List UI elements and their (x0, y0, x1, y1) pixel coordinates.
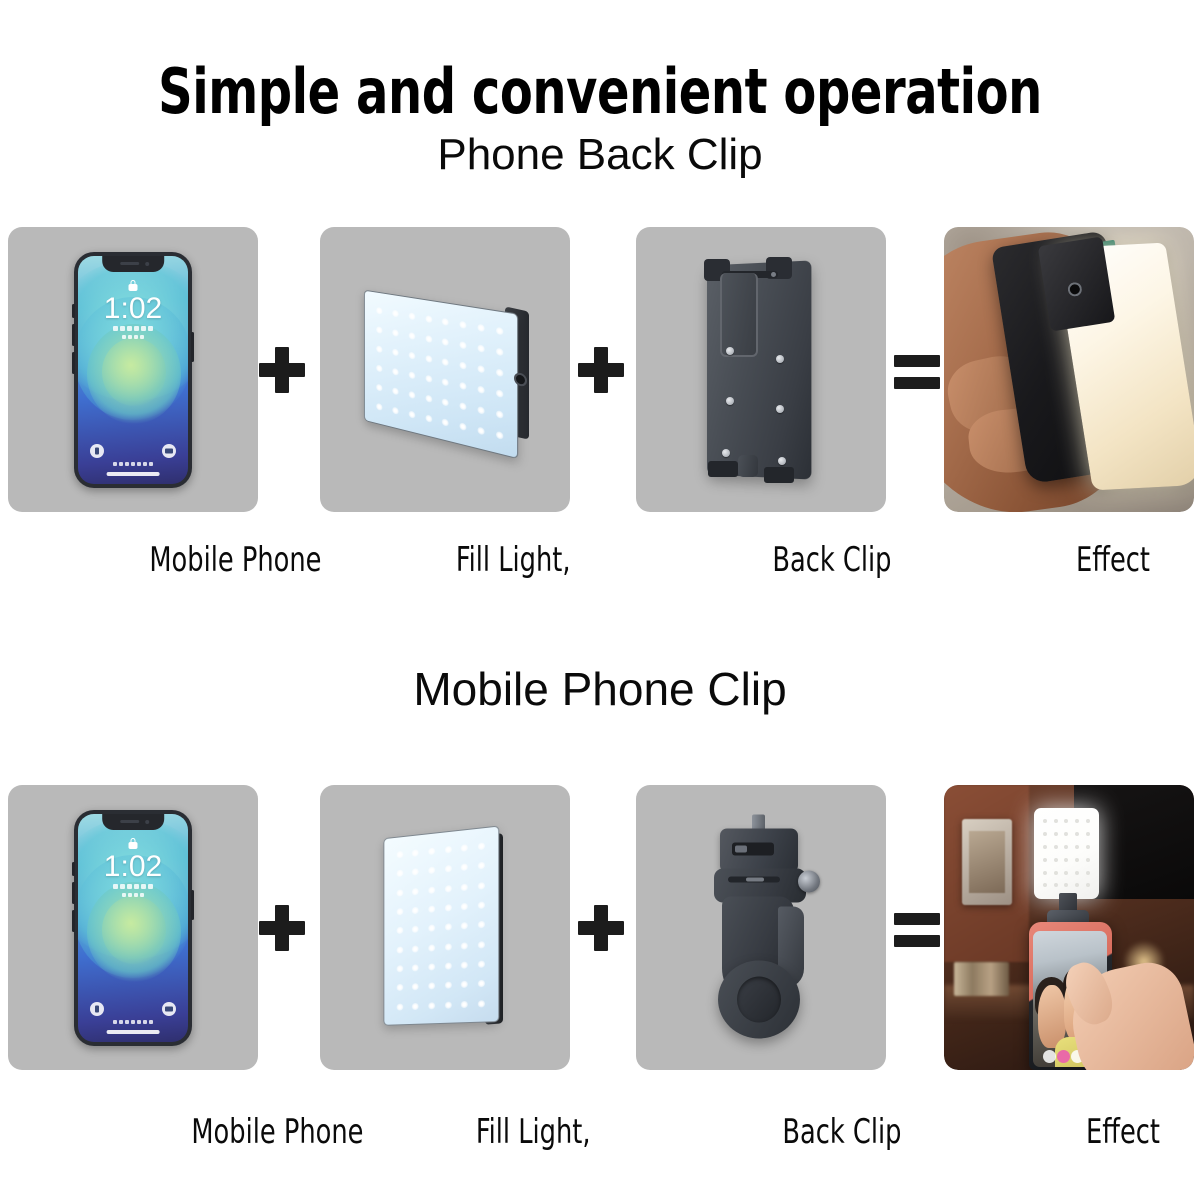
lock-icon (129, 838, 138, 849)
phone-screen: 1:02 (78, 256, 188, 484)
infographic-page: Simple and convenient operation Phone Ba… (0, 0, 1200, 1200)
phone-clamp-clip-illustration (696, 810, 826, 1045)
plus-operator-3 (259, 905, 305, 951)
power-button (191, 332, 194, 362)
earpiece-speaker (121, 262, 139, 265)
plus-operator-1 (259, 347, 305, 393)
volume-up-button (72, 324, 75, 346)
panel-back-clip-2 (636, 785, 886, 1070)
lockscreen-clock: 1:02 (78, 292, 188, 326)
home-indicator (107, 1030, 160, 1034)
panel-back-clip-1 (636, 227, 886, 512)
mobile-phone-illustration: 1:02 (74, 810, 192, 1046)
panel-effect-2 (944, 785, 1194, 1070)
lock-icon (129, 280, 138, 291)
mute-switch (72, 862, 75, 876)
lock-body (129, 842, 138, 849)
lockscreen-date-line-2 (122, 335, 144, 339)
panel-effect-1 (944, 227, 1194, 512)
volume-down-button (72, 352, 75, 374)
caption-fill-light-2: Fill Light, (476, 1112, 591, 1152)
led-grid (1039, 815, 1094, 892)
caption-effect-1: Effect (1076, 540, 1150, 580)
background-books (954, 962, 1009, 996)
clip-thumb-ring (718, 960, 800, 1038)
panel-fill-light-2 (320, 785, 570, 1070)
clip-screw-4 (776, 405, 784, 413)
home-indicator (107, 472, 160, 476)
wallpaper-circle-4 (102, 338, 166, 406)
camera-shortcut-icon (162, 1002, 176, 1016)
front-camera-icon (145, 820, 149, 824)
lockscreen-date-line-1 (113, 884, 153, 889)
lock-body (129, 284, 138, 291)
phone-notch (102, 256, 164, 272)
plus-operator-4 (578, 905, 624, 951)
volume-up-button (72, 882, 75, 904)
lockscreen-clock: 1:02 (78, 850, 188, 884)
caption-mobile-phone-2: Mobile Phone (191, 1112, 363, 1152)
clip-slot-window (732, 842, 774, 855)
camera-shortcut-icon (162, 444, 176, 458)
wallpaper-circle-4 (102, 896, 166, 964)
front-camera-icon (145, 262, 149, 266)
caption-mobile-phone-1: Mobile Phone (149, 540, 321, 580)
mute-switch (72, 304, 75, 318)
lockscreen-hint-text (113, 1020, 153, 1024)
equals-operator-1 (894, 355, 940, 391)
mobile-phone-clip-row: 1:02 (0, 785, 1200, 1070)
fill-light-panel-illustration (355, 295, 535, 445)
volume-down-button (72, 910, 75, 932)
power-button (191, 890, 194, 920)
page-title: Simple and convenient operation (84, 55, 1116, 128)
glowing-light-panel (1034, 808, 1099, 899)
equals-operator-2 (894, 913, 940, 949)
phone-notch (102, 814, 164, 830)
clip-center-rail (720, 273, 758, 357)
clip-screw-2 (776, 355, 784, 363)
lockscreen-hint-text (113, 462, 153, 466)
back-clip-plate-illustration (686, 255, 836, 485)
clip-top-mount-block (720, 828, 798, 872)
fill-light-diffuser-face (364, 289, 518, 459)
panel-mobile-phone-2: 1:02 (8, 785, 258, 1070)
clip-screw-6 (778, 457, 786, 465)
panel-fill-light-1 (320, 227, 570, 512)
caption-fill-light-1: Fill Light, (456, 540, 571, 580)
lockscreen-date-line-1 (113, 326, 153, 331)
caption-back-clip-2: Back Clip (782, 1112, 901, 1152)
caption-effect-2: Effect (1086, 1112, 1160, 1152)
earpiece-speaker (121, 820, 139, 823)
background-picture-frame (962, 819, 1012, 905)
clip-tab-bottom-right (764, 467, 794, 483)
led-grid (392, 835, 490, 1016)
section-title-1: Phone Back Clip (0, 130, 1200, 180)
clip-screw-5 (722, 449, 730, 457)
panel-mobile-phone-1: 1:02 (8, 227, 258, 512)
led-grid (372, 299, 509, 447)
plus-operator-2 (578, 347, 624, 393)
mobile-phone-illustration: 1:02 (74, 252, 192, 488)
caption-back-clip-1: Back Clip (772, 540, 891, 580)
clip-pivot-knob (798, 870, 820, 892)
clip-pivot-hole (1067, 282, 1083, 298)
fill-light-panel-portrait-illustration (375, 828, 515, 1028)
section-title-2: Mobile Phone Clip (0, 662, 1200, 716)
lockscreen-date-line-2 (122, 893, 144, 897)
clip-mechanism (1038, 237, 1116, 332)
flashlight-shortcut-icon (90, 444, 104, 458)
fill-light-diffuser-face (383, 825, 499, 1025)
clip-bottom-knob (738, 455, 758, 477)
phone-screen: 1:02 (78, 814, 188, 1042)
flashlight-shortcut-icon (90, 1002, 104, 1016)
clip-screw-3 (726, 397, 734, 405)
clip-hinge-bar (728, 876, 780, 882)
effect-photo-hand-holding-phone (944, 227, 1194, 512)
clip-screw-1 (726, 347, 734, 355)
phone-back-clip-row: 1:02 (0, 227, 1200, 512)
clip-tab-bottom-left (708, 461, 738, 477)
effect-photo-selfie-with-light (944, 785, 1194, 1070)
